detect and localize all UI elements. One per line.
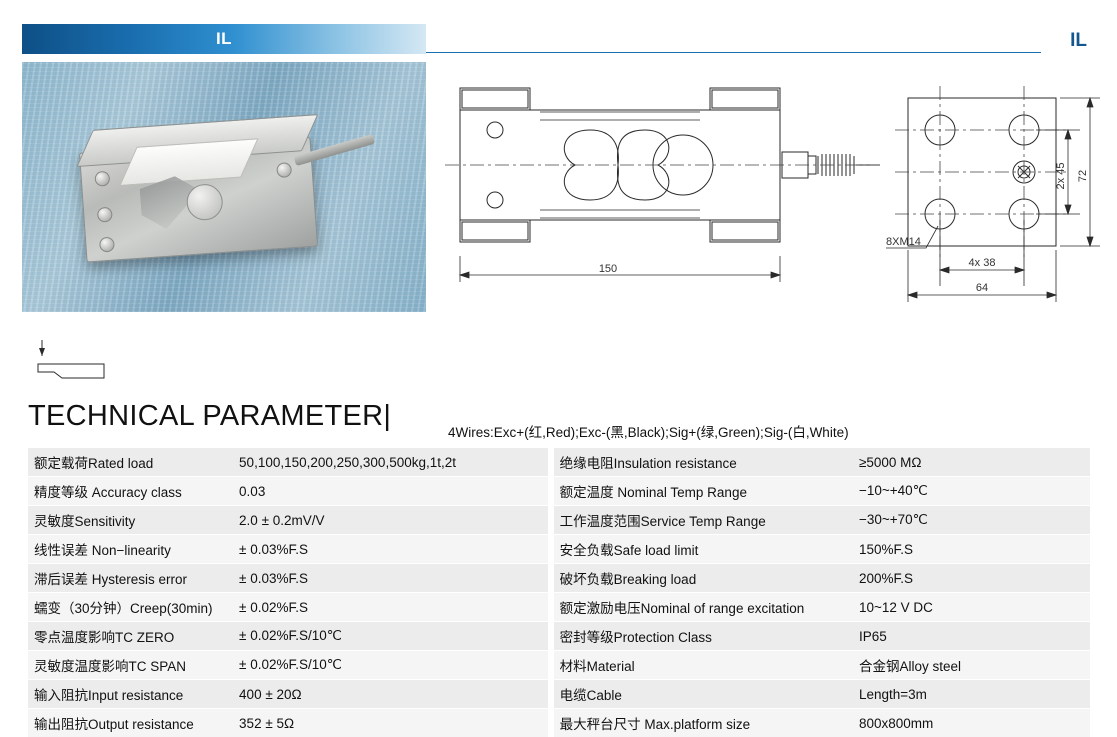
spec-value: ± 0.03%F.S bbox=[233, 535, 551, 564]
spec-value: 0.03 bbox=[233, 477, 551, 506]
spec-key: 滞后误差 Hysteresis error bbox=[28, 564, 233, 593]
spec-value: 合金钢Alloy steel bbox=[853, 651, 1090, 680]
spec-key: 密封等级Protection Class bbox=[551, 622, 853, 651]
spec-value: IP65 bbox=[853, 622, 1090, 651]
spec-key: 灵敏度Sensitivity bbox=[28, 506, 233, 535]
spec-key: 绝缘电阻Insulation resistance bbox=[551, 448, 853, 477]
spec-key: 破坏负载Breaking load bbox=[551, 564, 853, 593]
spec-value: ± 0.02%F.S/10℃ bbox=[233, 622, 551, 651]
table-row: 输出阻抗Output resistance 352 ± 5Ω 最大秤台尺寸 Ma… bbox=[28, 709, 1090, 737]
spec-value: Length=3m bbox=[853, 680, 1090, 709]
spec-value: ± 0.02%F.S/10℃ bbox=[233, 651, 551, 680]
page-title: TECHNICAL PARAMETER| bbox=[28, 400, 391, 433]
title-cursor: | bbox=[383, 400, 391, 432]
spec-value: 400 ± 20Ω bbox=[233, 680, 551, 709]
spec-value: 10~12 V DC bbox=[853, 593, 1090, 622]
table-row: 输入阻抗Input resistance 400 ± 20Ω 电缆Cable L… bbox=[28, 680, 1090, 709]
spec-value: 2.0 ± 0.2mV/V bbox=[233, 506, 551, 535]
thread-callout-8xm14: 8XM14 bbox=[886, 236, 921, 248]
spec-key: 灵敏度温度影响TC SPAN bbox=[28, 651, 233, 680]
dimension-2x45: 2x 45 bbox=[1055, 163, 1067, 190]
spec-value: −30~+70℃ bbox=[853, 506, 1090, 535]
spec-value: ≥5000 MΩ bbox=[853, 448, 1090, 477]
spec-key: 额定温度 Nominal Temp Range bbox=[551, 477, 853, 506]
dimension-72: 72 bbox=[1077, 170, 1089, 182]
table-row: 滞后误差 Hysteresis error ± 0.03%F.S 破坏负载Bre… bbox=[28, 564, 1090, 593]
spec-value: −10~+40℃ bbox=[853, 477, 1090, 506]
spec-value: 150%F.S bbox=[853, 535, 1090, 564]
side-view-icon bbox=[28, 338, 148, 394]
header-badge-label: IL bbox=[216, 29, 232, 49]
header-model-label: IL bbox=[1070, 30, 1087, 52]
header-badge: IL bbox=[22, 24, 426, 54]
table-row: 线性误差 Non−linearity ± 0.03%F.S 安全负载Safe l… bbox=[28, 535, 1090, 564]
spec-value: 352 ± 5Ω bbox=[233, 709, 551, 737]
spec-key: 安全负载Safe load limit bbox=[551, 535, 853, 564]
spec-key: 额定载荷Rated load bbox=[28, 448, 233, 477]
dimension-64: 64 bbox=[976, 282, 988, 294]
spec-key: 额定激励电压Nominal of range excitation bbox=[551, 593, 853, 622]
page-header: IL IL bbox=[0, 0, 1117, 60]
spec-key: 线性误差 Non−linearity bbox=[28, 535, 233, 564]
spec-key: 输入阻抗Input resistance bbox=[28, 680, 233, 709]
drawing-svg: 150 2x 45 72 bbox=[440, 70, 1100, 320]
specification-table: 额定载荷Rated load 50,100,150,200,250,300,50… bbox=[28, 447, 1090, 737]
spec-key: 最大秤台尺寸 Max.platform size bbox=[551, 709, 853, 737]
product-photo bbox=[22, 62, 426, 312]
table-row: 蠕变（30分钟）Creep(30min) ± 0.02%F.S 额定激励电压No… bbox=[28, 593, 1090, 622]
spec-key: 输出阻抗Output resistance bbox=[28, 709, 233, 737]
load-cell-illustration bbox=[77, 113, 336, 270]
spec-key: 材料Material bbox=[551, 651, 853, 680]
spec-value: 50,100,150,200,250,300,500kg,1t,2t bbox=[233, 448, 551, 477]
table-row: 零点温度影响TC ZERO ± 0.02%F.S/10℃ 密封等级Protect… bbox=[28, 622, 1090, 651]
table-row: 灵敏度温度影响TC SPAN ± 0.02%F.S/10℃ 材料Material… bbox=[28, 651, 1090, 680]
dimension-4x38: 4x 38 bbox=[969, 257, 996, 269]
table-row: 精度等级 Accuracy class 0.03 额定温度 Nominal Te… bbox=[28, 477, 1090, 506]
spec-key: 蠕变（30分钟）Creep(30min) bbox=[28, 593, 233, 622]
spec-value: 800x800mm bbox=[853, 709, 1090, 737]
side-view-svg bbox=[28, 338, 148, 394]
spec-key: 电缆Cable bbox=[551, 680, 853, 709]
dimension-150: 150 bbox=[599, 263, 617, 275]
spec-key: 零点温度影响TC ZERO bbox=[28, 622, 233, 651]
table-row: 灵敏度Sensitivity 2.0 ± 0.2mV/V 工作温度范围Servi… bbox=[28, 506, 1090, 535]
wiring-note: 4Wires:Exc+(红,Red);Exc-(黑,Black);Sig+(绿,… bbox=[448, 421, 849, 441]
engineering-drawings: 150 2x 45 72 bbox=[440, 70, 1100, 320]
spec-key: 精度等级 Accuracy class bbox=[28, 477, 233, 506]
table-row: 额定载荷Rated load 50,100,150,200,250,300,50… bbox=[28, 448, 1090, 477]
spec-value: ± 0.03%F.S bbox=[233, 564, 551, 593]
spec-value: ± 0.02%F.S bbox=[233, 593, 551, 622]
header-divider bbox=[426, 52, 1041, 53]
spec-key: 工作温度范围Service Temp Range bbox=[551, 506, 853, 535]
page-title-text: TECHNICAL PARAMETER bbox=[28, 400, 383, 432]
spec-value: 200%F.S bbox=[853, 564, 1090, 593]
